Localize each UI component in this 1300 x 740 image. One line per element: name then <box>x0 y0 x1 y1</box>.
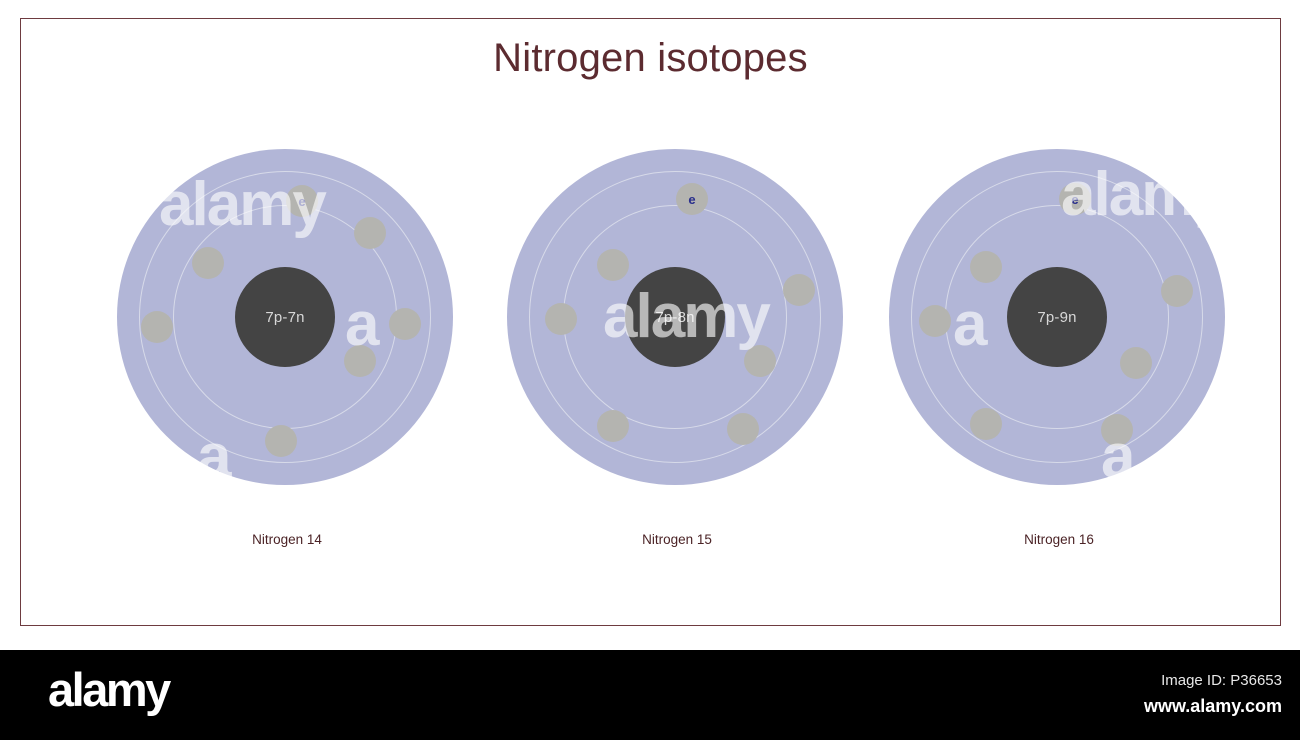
electron-symbol: e <box>688 193 695 206</box>
electron <box>192 247 224 279</box>
electron <box>354 217 386 249</box>
electron <box>1161 275 1193 307</box>
nucleus: 7p-9n <box>1007 267 1107 367</box>
electron <box>141 311 173 343</box>
electron <box>970 251 1002 283</box>
electron: e <box>676 183 708 215</box>
electron <box>970 408 1002 440</box>
electron-symbol: e <box>298 195 305 208</box>
electron <box>344 345 376 377</box>
atom-diagram-nitrogen-16: e 7p-9n alamy a a Nitrogen 16 <box>879 149 1239 579</box>
electron <box>727 413 759 445</box>
atom-graphic: e 7p-8n alamy <box>507 149 843 485</box>
atom-graphic: e 7p-7n alamy a a <box>117 149 453 485</box>
electron <box>265 425 297 457</box>
electron: e <box>1059 183 1091 215</box>
electron <box>597 410 629 442</box>
page-title: Nitrogen isotopes <box>21 35 1280 81</box>
atom-diagram-nitrogen-15: e 7p-8n alamy Nitrogen 15 <box>497 149 857 579</box>
electron <box>597 249 629 281</box>
electron <box>744 345 776 377</box>
electron-symbol: e <box>1071 193 1078 206</box>
atom-caption: Nitrogen 15 <box>497 532 857 547</box>
atom-diagram-nitrogen-14: e 7p-7n alamy a a Nitrogen 14 <box>107 149 467 579</box>
atom-graphic: e 7p-9n alamy a a <box>889 149 1225 485</box>
electron <box>545 303 577 335</box>
alamy-footer: alamy Image ID: P36653 www.alamy.com <box>0 650 1300 740</box>
electron <box>389 308 421 340</box>
nucleus: 7p-7n <box>235 267 335 367</box>
atom-caption: Nitrogen 16 <box>879 532 1239 547</box>
alamy-logo: alamy <box>48 666 169 713</box>
nucleus-label: 7p-9n <box>1037 309 1076 326</box>
alamy-url[interactable]: www.alamy.com <box>1022 696 1282 717</box>
electron <box>919 305 951 337</box>
nucleus: 7p-8n <box>625 267 725 367</box>
screenshot-root: Nitrogen isotopes e 7p-7n <box>0 0 1300 740</box>
image-id-text: Image ID: P36653 <box>1022 672 1282 689</box>
electron <box>783 274 815 306</box>
nucleus-label: 7p-7n <box>265 309 304 326</box>
electron: e <box>286 185 318 217</box>
electron <box>1101 414 1133 446</box>
nucleus-label: 7p-8n <box>655 309 694 326</box>
illustration-panel: Nitrogen isotopes e 7p-7n <box>20 18 1281 626</box>
atom-caption: Nitrogen 14 <box>107 532 467 547</box>
electron <box>1120 347 1152 379</box>
